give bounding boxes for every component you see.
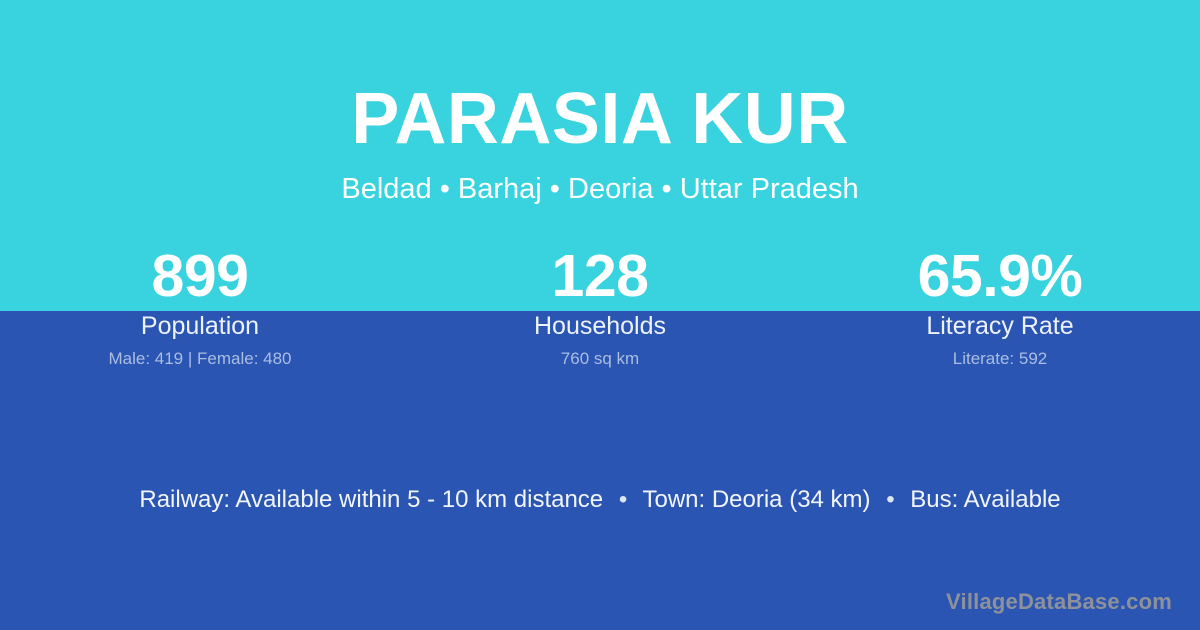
stat-value-population: 899	[0, 245, 400, 307]
stat-label-literacy-rate: Literacy Rate	[800, 311, 1200, 341]
stat-sub-population: Male: 419 | Female: 480	[0, 349, 400, 369]
stat-label-households: Households	[400, 311, 800, 341]
village-info-card: PARASIA KUR Beldad • Barhaj • Deoria • U…	[0, 0, 1200, 630]
bullet-separator-icon: •	[610, 485, 636, 515]
stat-households: 128 Households 760 sq km	[400, 245, 800, 369]
stat-sub-households: 760 sq km	[400, 349, 800, 369]
page-title: PARASIA KUR	[0, 0, 1200, 155]
breadcrumb: Beldad • Barhaj • Deoria • Uttar Pradesh	[0, 155, 1200, 204]
stat-value-households: 128	[400, 245, 800, 307]
bullet-separator-icon: •	[877, 485, 903, 515]
amenities-line: Railway: Available within 5 - 10 km dist…	[0, 485, 1200, 515]
stat-value-literacy-rate: 65.9%	[800, 245, 1200, 307]
stat-population: 899 Population Male: 419 | Female: 480	[0, 245, 400, 369]
amenity-railway: Railway: Available within 5 - 10 km dist…	[139, 486, 603, 513]
amenity-bus: Bus: Available	[910, 486, 1060, 513]
site-brand-watermark: VillageDataBase.com	[946, 588, 1172, 616]
card-header: PARASIA KUR Beldad • Barhaj • Deoria • U…	[0, 0, 1200, 204]
stat-literacy-rate: 65.9% Literacy Rate Literate: 592	[800, 245, 1200, 369]
stats-row: 899 Population Male: 419 | Female: 480 1…	[0, 245, 1200, 369]
stat-label-population: Population	[0, 311, 400, 341]
stat-sub-literacy-rate: Literate: 592	[800, 349, 1200, 369]
amenity-town: Town: Deoria (34 km)	[642, 486, 870, 513]
